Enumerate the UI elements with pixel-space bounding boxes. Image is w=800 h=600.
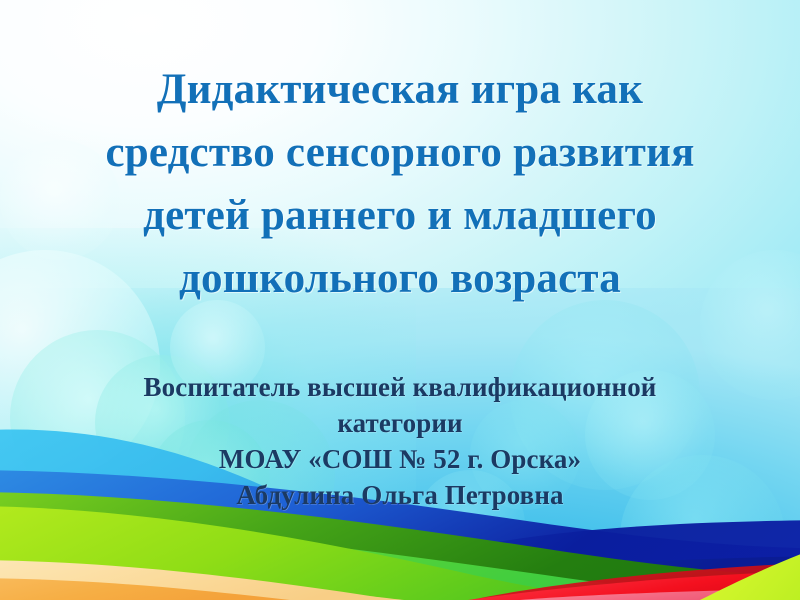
subtitle-line-position: Воспитатель высшей квалификационной — [0, 369, 800, 405]
slide-text-layer: Дидактическая игра как средство сенсорно… — [0, 0, 800, 600]
title-line: Дидактическая игра как — [0, 58, 800, 121]
subtitle-line-school: МОАУ «СОШ № 52 г. Орска» — [0, 441, 800, 477]
title-line: средство сенсорного развития — [0, 121, 800, 184]
slide-subtitle: Воспитатель высшей квалификационной кате… — [0, 369, 800, 513]
title-line: дошкольного возраста — [0, 247, 800, 310]
title-line: детей раннего и младшего — [0, 184, 800, 247]
subtitle-line-category: категории — [0, 405, 800, 441]
presentation-slide: Дидактическая игра как средство сенсорно… — [0, 0, 800, 600]
slide-title: Дидактическая игра как средство сенсорно… — [0, 58, 800, 310]
subtitle-line-author: Абдулина Ольга Петровна — [0, 477, 800, 513]
